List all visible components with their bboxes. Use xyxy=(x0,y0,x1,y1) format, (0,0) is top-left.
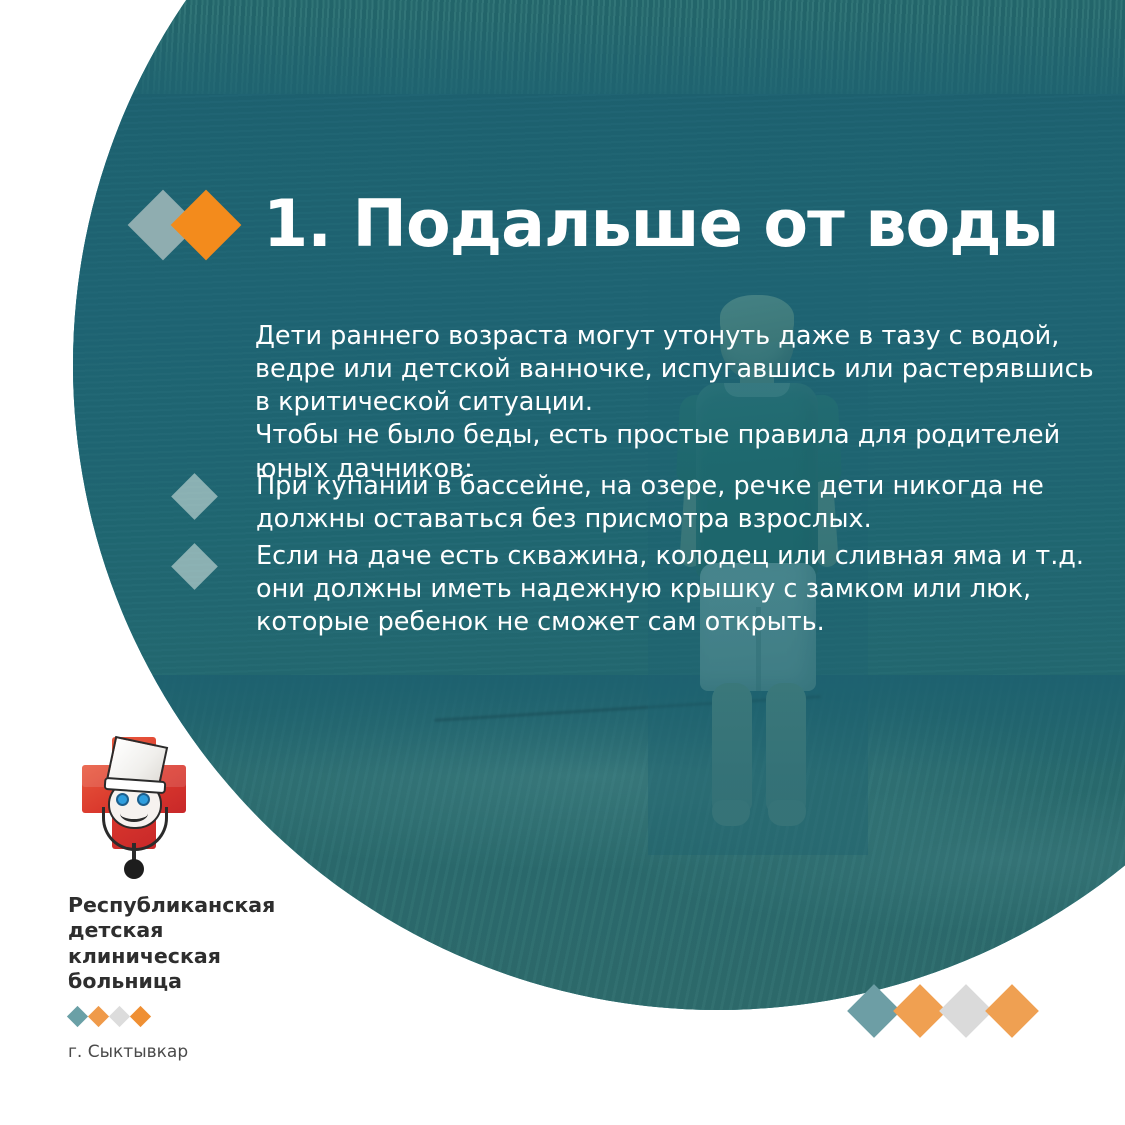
hospital-name-line: клиническая xyxy=(68,944,338,969)
page-title-row: 1. Подальше от воды xyxy=(138,192,1058,257)
bullet-diamond-icon xyxy=(171,543,218,590)
stethoscope-bell-icon xyxy=(124,859,144,879)
hospital-name-line: Республиканская xyxy=(68,893,338,918)
logo-diamond-icon xyxy=(67,1006,88,1027)
bullet-line: При купании в бассейне, на озере, речке … xyxy=(256,470,1044,503)
bullet-diamond-icon xyxy=(171,473,218,520)
bullet-line: должны оставаться без присмотра взрослых… xyxy=(256,503,1044,536)
intro-paragraph: Дети раннего возраста могут утонуть даже… xyxy=(255,320,1095,486)
logo-diamond-icon xyxy=(130,1006,151,1027)
hospital-logo: Республиканская детская клиническая боль… xyxy=(68,735,338,1062)
hospital-city: г. Сыктывкар xyxy=(68,1042,338,1062)
logo-diamond-icon xyxy=(109,1006,130,1027)
bottom-diamond-icon xyxy=(985,984,1039,1038)
bullet-line: Если на даче есть скважина, колодец или … xyxy=(256,540,1084,573)
bullet-text: Если на даче есть скважина, колодец или … xyxy=(256,540,1084,639)
bullet-line: которые ребенок не сможет сам открыть. xyxy=(256,606,1084,639)
intro-line: в критической ситуации. xyxy=(255,386,1095,419)
intro-line: Чтобы не было беды, есть простые правила… xyxy=(255,419,1095,452)
title-diamond-orange-icon xyxy=(171,189,242,260)
bullet-item: Если на даче есть скважина, колодец или … xyxy=(178,540,1088,639)
hospital-name: Республиканская детская клиническая боль… xyxy=(68,893,338,995)
bullet-line: они должны иметь надежную крышку с замко… xyxy=(256,573,1084,606)
intro-line: ведре или детской ванночке, испугавшись … xyxy=(255,353,1095,386)
logo-diamond-icon xyxy=(88,1006,109,1027)
poster-canvas: 1. Подальше от воды Дети раннего возраст… xyxy=(0,0,1125,1125)
bottom-diamond-strip xyxy=(855,992,1031,1030)
red-cross-mascot-icon xyxy=(74,735,194,857)
bullet-item: При купании в бассейне, на озере, речке … xyxy=(178,470,1088,536)
page-title: 1. Подальше от воды xyxy=(263,192,1058,257)
bullet-text: При купании в бассейне, на озере, речке … xyxy=(256,470,1044,536)
intro-line: Дети раннего возраста могут утонуть даже… xyxy=(255,320,1095,353)
logo-diamond-strip xyxy=(70,1009,338,1024)
hospital-name-line: детская xyxy=(68,918,338,943)
hospital-name-line: больница xyxy=(68,969,338,994)
